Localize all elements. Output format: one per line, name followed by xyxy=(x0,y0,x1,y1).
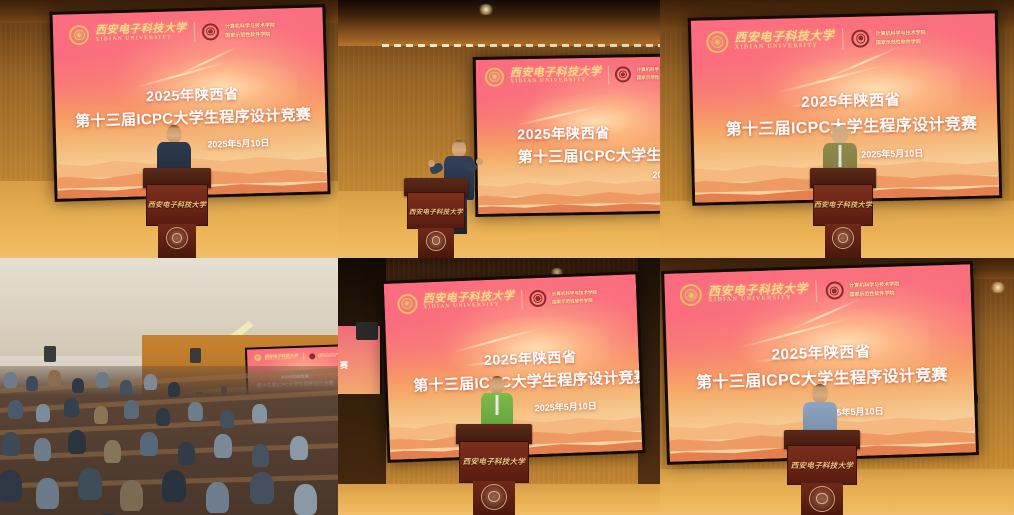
speaker-lanyard xyxy=(496,395,499,415)
audience-member xyxy=(252,444,269,467)
logo-divider xyxy=(816,280,818,302)
slide-header: 西安电子科技大学 XIDIAN UNIVERSITY 计算机科学与技术学院 国家… xyxy=(397,285,624,314)
audience-member xyxy=(220,410,234,428)
slide-header: 西安电子科技大学 XIDIAN UNIVERSITY 计算机科学与技术学院 国家… xyxy=(706,25,980,54)
speaker-head xyxy=(490,376,505,394)
department-name-line2: 国家示范性软件学院 xyxy=(552,297,597,305)
department-name-line2: 国家示范性软件学院 xyxy=(876,38,926,46)
audience-member xyxy=(26,376,38,391)
audience-member xyxy=(78,468,102,500)
audience-member xyxy=(168,382,180,397)
audience-member xyxy=(162,470,186,502)
department-logo: 计算机科学与技术学院 国家示范性软件学院 xyxy=(529,288,598,308)
ceiling-light-strip xyxy=(382,44,660,47)
logo-divider xyxy=(521,289,523,309)
speaker-head xyxy=(832,126,848,144)
wall-speaker-icon xyxy=(356,322,378,340)
slide-header: 西安电子科技大学 XIDIAN UNIVERSITY 计算机科学与技术学院 国家… xyxy=(680,276,956,307)
podium-university-text: 西安电子科技大学 xyxy=(409,206,463,216)
university-logo: 西安电子科技大学 XIDIAN UNIVERSITY xyxy=(69,22,187,45)
photo-panel-bottom-center[interactable]: 赛 西安电子科技大学 XIDIAN UNIVERSITY xyxy=(338,258,660,515)
slide-date: 2025年5月10日 xyxy=(207,136,269,151)
photo-panel-bottom-right[interactable]: 西安电子科技大学 XIDIAN UNIVERSITY 计算机科学与技术学院 国家… xyxy=(660,258,1014,515)
department-name-line1: 计算机科学与技术学院 xyxy=(552,289,597,297)
audience-member xyxy=(2,432,20,456)
podium-front-panel: 西安电子科技大学 xyxy=(813,184,874,225)
podium-stem xyxy=(418,228,454,258)
audience-member xyxy=(48,370,61,386)
department-logo: 计算机科学与技术学院 国家示范性软件学院 xyxy=(852,28,926,48)
university-logo: 西安电子科技大学 XIDIAN UNIVERSITY xyxy=(680,281,808,307)
audience-member xyxy=(72,378,84,393)
speaker-hand xyxy=(428,160,435,167)
audience-member xyxy=(178,442,195,465)
podium-university-text: 西安电子科技大学 xyxy=(463,456,525,467)
podium-emblem-icon xyxy=(481,484,507,510)
podium-front-panel: 西安电子科技大学 xyxy=(787,445,857,485)
audience-member xyxy=(104,440,121,463)
audience-member xyxy=(120,480,143,511)
slide-title-line1: 2025年陕西省 xyxy=(517,120,660,144)
university-logo: 西安电子科技大学 XIDIAN UNIVERSITY xyxy=(706,28,834,53)
slide-title: 2025年陕西省 第十三届ICPC大学生程序设计竞赛 xyxy=(407,344,646,396)
podium-stem xyxy=(825,224,862,258)
college-seal-icon xyxy=(852,29,870,47)
podium-stem xyxy=(473,481,516,515)
department-name-line1: 计算机科学与技术学院 xyxy=(876,29,926,37)
university-name-en: XIDIAN UNIVERSITY xyxy=(95,35,187,43)
department-logo: 计算机科学与技术学院 国家示范性软件学院 xyxy=(202,21,275,40)
podium-stem xyxy=(158,224,196,258)
department-name-line2: 国家示范性软件学院 xyxy=(637,75,660,82)
podium[interactable]: 西安电子科技大学 xyxy=(456,424,532,515)
audience-member xyxy=(64,398,79,417)
university-name-en: XIDIAN UNIVERSITY xyxy=(265,358,298,361)
department-name-line2: 国家示范性软件学院 xyxy=(225,31,275,39)
slide-title: 2025年陕西省 第十三届ICPC大学生程序设计竞赛 xyxy=(517,120,660,167)
xidian-seal-icon xyxy=(485,67,504,86)
podium-emblem-icon xyxy=(426,231,446,251)
podium-university-text: 西安电子科技大学 xyxy=(814,200,872,210)
audience-member xyxy=(0,470,22,502)
audience-seating-area xyxy=(0,366,338,515)
university-name-en: XIDIAN UNIVERSITY xyxy=(510,78,602,85)
photo-collage: 西安电子科技大学 XIDIAN UNIVERSITY 计算机科学与技术学院 国家… xyxy=(0,0,1014,515)
university-logo: 西安电子科技大学 XIDIAN UNIVERSITY xyxy=(397,289,515,313)
department-logo: 计算机科学与技术学院 国家示范性软件学院 xyxy=(615,66,660,83)
podium-emblem-icon xyxy=(809,486,835,512)
college-seal-icon xyxy=(202,23,219,40)
college-seal-icon xyxy=(825,282,844,301)
wall-speaker-icon xyxy=(190,348,201,363)
podium-stem xyxy=(801,483,844,515)
audience-member xyxy=(96,372,109,388)
podium-front-panel: 西安电子科技大学 xyxy=(407,192,466,229)
audience-member xyxy=(144,374,157,390)
audience-member xyxy=(206,482,229,513)
podium-emblem-icon xyxy=(166,227,188,249)
audience-member xyxy=(120,380,132,395)
side-screen-text: 赛 xyxy=(340,360,348,371)
xidian-seal-icon xyxy=(254,355,261,362)
audience-member xyxy=(4,372,17,388)
audience-member xyxy=(8,400,23,419)
photo-panel-top-right[interactable]: 西安电子科技大学 XIDIAN UNIVERSITY 计算机科学与技术学院 国家… xyxy=(660,0,1014,258)
xidian-seal-icon xyxy=(680,284,703,307)
logo-divider xyxy=(607,65,608,84)
slide-title-line2: 第十三届ICPC大学生程序设计竞赛 xyxy=(517,142,660,167)
speaker-hand xyxy=(476,158,483,165)
college-seal-icon xyxy=(615,66,631,82)
podium[interactable]: 西安电子科技大学 xyxy=(810,168,876,258)
photo-panel-top-center[interactable]: 西安电子科技大学 XIDIAN UNIVERSITY 计算机科学与技术学院 国家… xyxy=(338,0,660,258)
audience-member xyxy=(124,400,139,419)
podium[interactable]: 西安电子科技大学 xyxy=(784,430,860,515)
podium-emblem-icon xyxy=(832,227,854,249)
logo-divider xyxy=(194,22,196,42)
auditorium-wide-view: 西安电子科技大学 XIDIAN UNIVERSITY 计算机科学与技术学院 国家… xyxy=(0,258,338,515)
ceiling xyxy=(338,0,660,46)
podium-university-text: 西安电子科技大学 xyxy=(148,200,206,210)
department-name-line2: 国家示范性软件学院 xyxy=(849,290,899,299)
university-logo: 西安电子科技大学 XIDIAN UNIVERSITY xyxy=(485,65,602,86)
audience-member xyxy=(290,436,308,460)
wall-speaker-icon xyxy=(44,346,56,362)
department-name-line2: 国家示范性软件学院 xyxy=(318,355,338,358)
slide-header: 西安电子科技大学 XIDIAN UNIVERSITY 计算机科学与技术学院 国家… xyxy=(254,351,338,362)
slide-date: 2025年5月10日 xyxy=(861,146,923,161)
audience-member xyxy=(140,432,158,456)
audience-member xyxy=(188,402,203,421)
xidian-seal-icon xyxy=(69,25,90,46)
department-name-line1: 计算机科学与技术学院 xyxy=(637,67,660,74)
audience-member xyxy=(214,434,232,458)
speaker-head xyxy=(812,384,828,403)
audience-member xyxy=(252,404,267,423)
speaker-lanyard xyxy=(839,145,842,167)
audience-member xyxy=(156,408,170,426)
photo-panel-bottom-left-auditorium[interactable]: 西安电子科技大学 XIDIAN UNIVERSITY 计算机科学与技术学院 国家… xyxy=(0,258,338,515)
university-name-en: XIDIAN UNIVERSITY xyxy=(735,42,835,51)
department-logo: 计算机科学与技术学院 国家示范性软件学院 xyxy=(825,280,900,300)
logo-divider xyxy=(842,28,844,50)
audience-member xyxy=(68,430,86,454)
slide-date: 2025年5月10日 xyxy=(534,399,597,414)
audience-member xyxy=(250,472,274,504)
slide-header: 西安电子科技大学 XIDIAN UNIVERSITY 计算机科学与技术学院 国家… xyxy=(69,19,310,46)
audience-member xyxy=(294,484,317,515)
xidian-seal-icon xyxy=(397,293,418,314)
college-seal-icon xyxy=(309,353,315,359)
podium[interactable]: 西安电子科技大学 xyxy=(404,178,468,258)
college-seal-icon xyxy=(529,290,547,308)
slide-title: 2025年陕西省 第十三届ICPC大学生程序设计竞赛 xyxy=(71,81,315,131)
audience-member xyxy=(34,438,51,461)
department-name-line1: 计算机科学与技术学院 xyxy=(225,22,275,30)
audience-member xyxy=(36,404,50,422)
speaker-head xyxy=(452,140,466,157)
audience-member xyxy=(94,406,108,424)
podium-front-panel: 西安电子科技大学 xyxy=(146,184,209,225)
department-name-line1: 计算机科学与技术学院 xyxy=(849,281,899,290)
audience-member xyxy=(36,478,59,509)
university-name-en: XIDIAN UNIVERSITY xyxy=(423,302,515,311)
speaker-head xyxy=(167,125,182,143)
slide-date: 2025年5月10日 xyxy=(652,167,660,181)
xidian-seal-icon xyxy=(706,31,729,54)
podium-front-panel: 西安电子科技大学 xyxy=(459,441,529,483)
slide-header: 西安电子科技大学 XIDIAN UNIVERSITY 计算机科学与技术学院 国家… xyxy=(485,64,660,87)
photo-panel-top-left[interactable]: 西安电子科技大学 XIDIAN UNIVERSITY 计算机科学与技术学院 国家… xyxy=(0,0,338,258)
led-stage-screen: 西安电子科技大学 XIDIAN UNIVERSITY 计算机科学与技术学院 国家… xyxy=(473,53,660,217)
podium-university-text: 西安电子科技大学 xyxy=(791,460,853,471)
podium[interactable]: 西安电子科技大学 xyxy=(143,168,211,258)
